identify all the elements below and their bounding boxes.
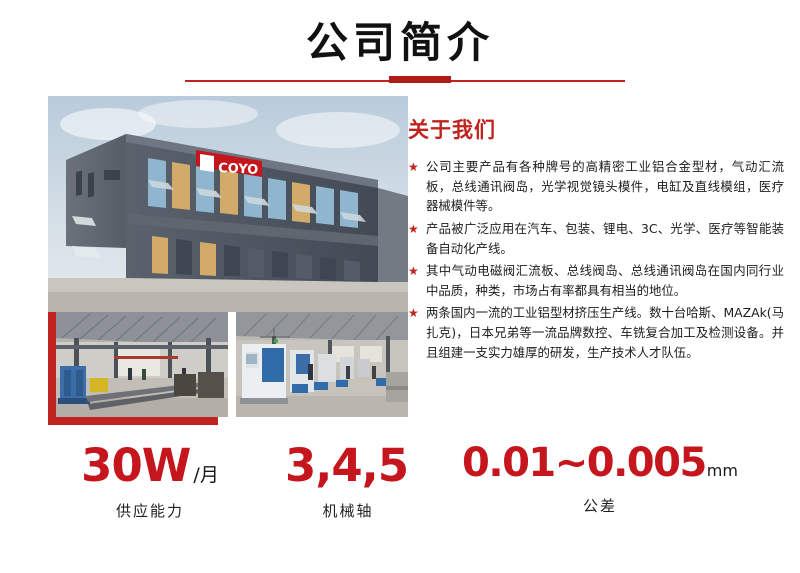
stat-tolerance-number: 0.01~0.005 bbox=[462, 440, 706, 486]
red-accent-bottom-bar bbox=[48, 417, 218, 425]
factory-photo-extrusion bbox=[56, 312, 228, 417]
title-underline-accent bbox=[389, 76, 451, 83]
about-bullet-text: 公司主要产品有各种牌号的高精密工业铝合金型材，气动汇流板，总线通讯阀岛，光学视觉… bbox=[426, 159, 784, 213]
stat-tolerance-label: 公差 bbox=[430, 495, 770, 516]
extrusion-workshop-illustration bbox=[56, 312, 228, 417]
about-bullet-item: ★ 其中气动电磁阀汇流板、总线阀岛、总线通讯阀岛在国内同行业中品质，种类，市场占… bbox=[408, 261, 784, 300]
about-bullet-text: 其中气动电磁阀汇流板、总线阀岛、总线通讯阀岛在国内同行业中品质，种类，市场占有率… bbox=[426, 263, 784, 298]
about-bullet-item: ★ 两条国内一流的工业铝型材挤压生产线。数十台哈斯、MAZAk(马扎克)，日本兄… bbox=[408, 303, 784, 362]
svg-text:COYO: COYO bbox=[218, 161, 259, 178]
about-section: 关于我们 ★ 公司主要产品有各种牌号的高精密工业铝合金型材，气动汇流板，总线通讯… bbox=[408, 118, 784, 365]
cnc-workshop-illustration bbox=[236, 312, 408, 417]
about-bullet-item: ★ 公司主要产品有各种牌号的高精密工业铝合金型材，气动汇流板，总线通讯阀岛，光学… bbox=[408, 157, 784, 216]
about-bullet-text: 两条国内一流的工业铝型材挤压生产线。数十台哈斯、MAZAk(马扎克)，日本兄弟等… bbox=[426, 305, 784, 359]
star-bullet-icon: ★ bbox=[408, 159, 419, 176]
company-profile-page: 公司简介 bbox=[0, 0, 800, 573]
stats-row: 30W/月 供应能力 3,4,5 机械轴 0.01~0.005mm 公差 bbox=[0, 443, 800, 543]
star-bullet-icon: ★ bbox=[408, 221, 419, 238]
stat-capacity: 30W/月 供应能力 bbox=[40, 443, 260, 521]
stat-capacity-label: 供应能力 bbox=[40, 500, 260, 521]
stat-capacity-value: 30W/月 bbox=[40, 443, 260, 488]
stat-axes-label: 机械轴 bbox=[258, 500, 438, 521]
about-heading: 关于我们 bbox=[408, 118, 784, 143]
stat-tolerance-value: 0.01~0.005mm bbox=[430, 443, 770, 483]
star-bullet-icon: ★ bbox=[408, 305, 419, 322]
about-bullet-text: 产品被广泛应用在汽车、包装、锂电、3C、光学、医疗等智能装备自动化产线。 bbox=[426, 221, 784, 256]
factory-photo-cnc bbox=[236, 312, 408, 417]
red-accent-left-bar bbox=[48, 312, 56, 425]
stat-capacity-unit: /月 bbox=[193, 464, 218, 486]
main-building-photo: COYO bbox=[48, 96, 408, 312]
page-title-block: 公司简介 bbox=[0, 16, 800, 70]
stat-axes: 3,4,5 机械轴 bbox=[258, 443, 438, 521]
factory-photo-row bbox=[48, 312, 408, 422]
page-title: 公司简介 bbox=[0, 16, 800, 70]
stat-axes-number: 3,4,5 bbox=[285, 439, 408, 492]
stat-capacity-number: 30W bbox=[81, 439, 190, 492]
about-bullet-item: ★ 产品被广泛应用在汽车、包装、锂电、3C、光学、医疗等智能装备自动化产线。 bbox=[408, 219, 784, 258]
stat-axes-value: 3,4,5 bbox=[258, 443, 438, 488]
star-bullet-icon: ★ bbox=[408, 263, 419, 280]
about-bullet-list: ★ 公司主要产品有各种牌号的高精密工业铝合金型材，气动汇流板，总线通讯阀岛，光学… bbox=[408, 157, 784, 362]
main-building-illustration: COYO bbox=[48, 96, 408, 312]
stat-tolerance-unit: mm bbox=[707, 461, 738, 480]
stat-tolerance: 0.01~0.005mm 公差 bbox=[430, 443, 770, 516]
